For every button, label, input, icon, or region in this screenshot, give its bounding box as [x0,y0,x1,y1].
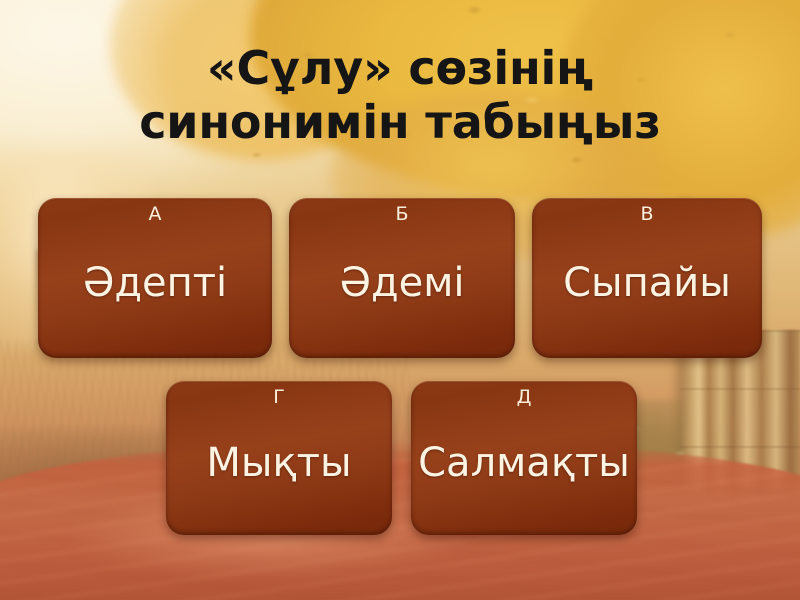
answer-option-b[interactable]: Б Әдемі [289,198,515,358]
answer-text-b: Әдемі [289,224,515,358]
answer-text-g: Мықты [166,407,392,535]
answer-text-v: Сыпайы [532,224,762,358]
answer-letter-g: Г [273,388,285,407]
answer-text-a: Әдепті [38,224,272,358]
answer-text-d: Салмақты [411,407,637,535]
answer-option-d[interactable]: Д Салмақты [411,381,637,535]
answer-letter-b: Б [395,205,408,224]
answer-option-a[interactable]: А Әдепті [38,198,272,358]
answer-letter-a: А [149,205,162,224]
answer-letter-v: В [640,205,653,224]
answer-letter-d: Д [517,388,532,407]
answer-option-v[interactable]: В Сыпайы [532,198,762,358]
answer-options-group: А Әдепті Б Әдемі В Сыпайы Г Мықты Д Салм… [0,0,800,600]
answer-option-g[interactable]: Г Мықты [166,381,392,535]
